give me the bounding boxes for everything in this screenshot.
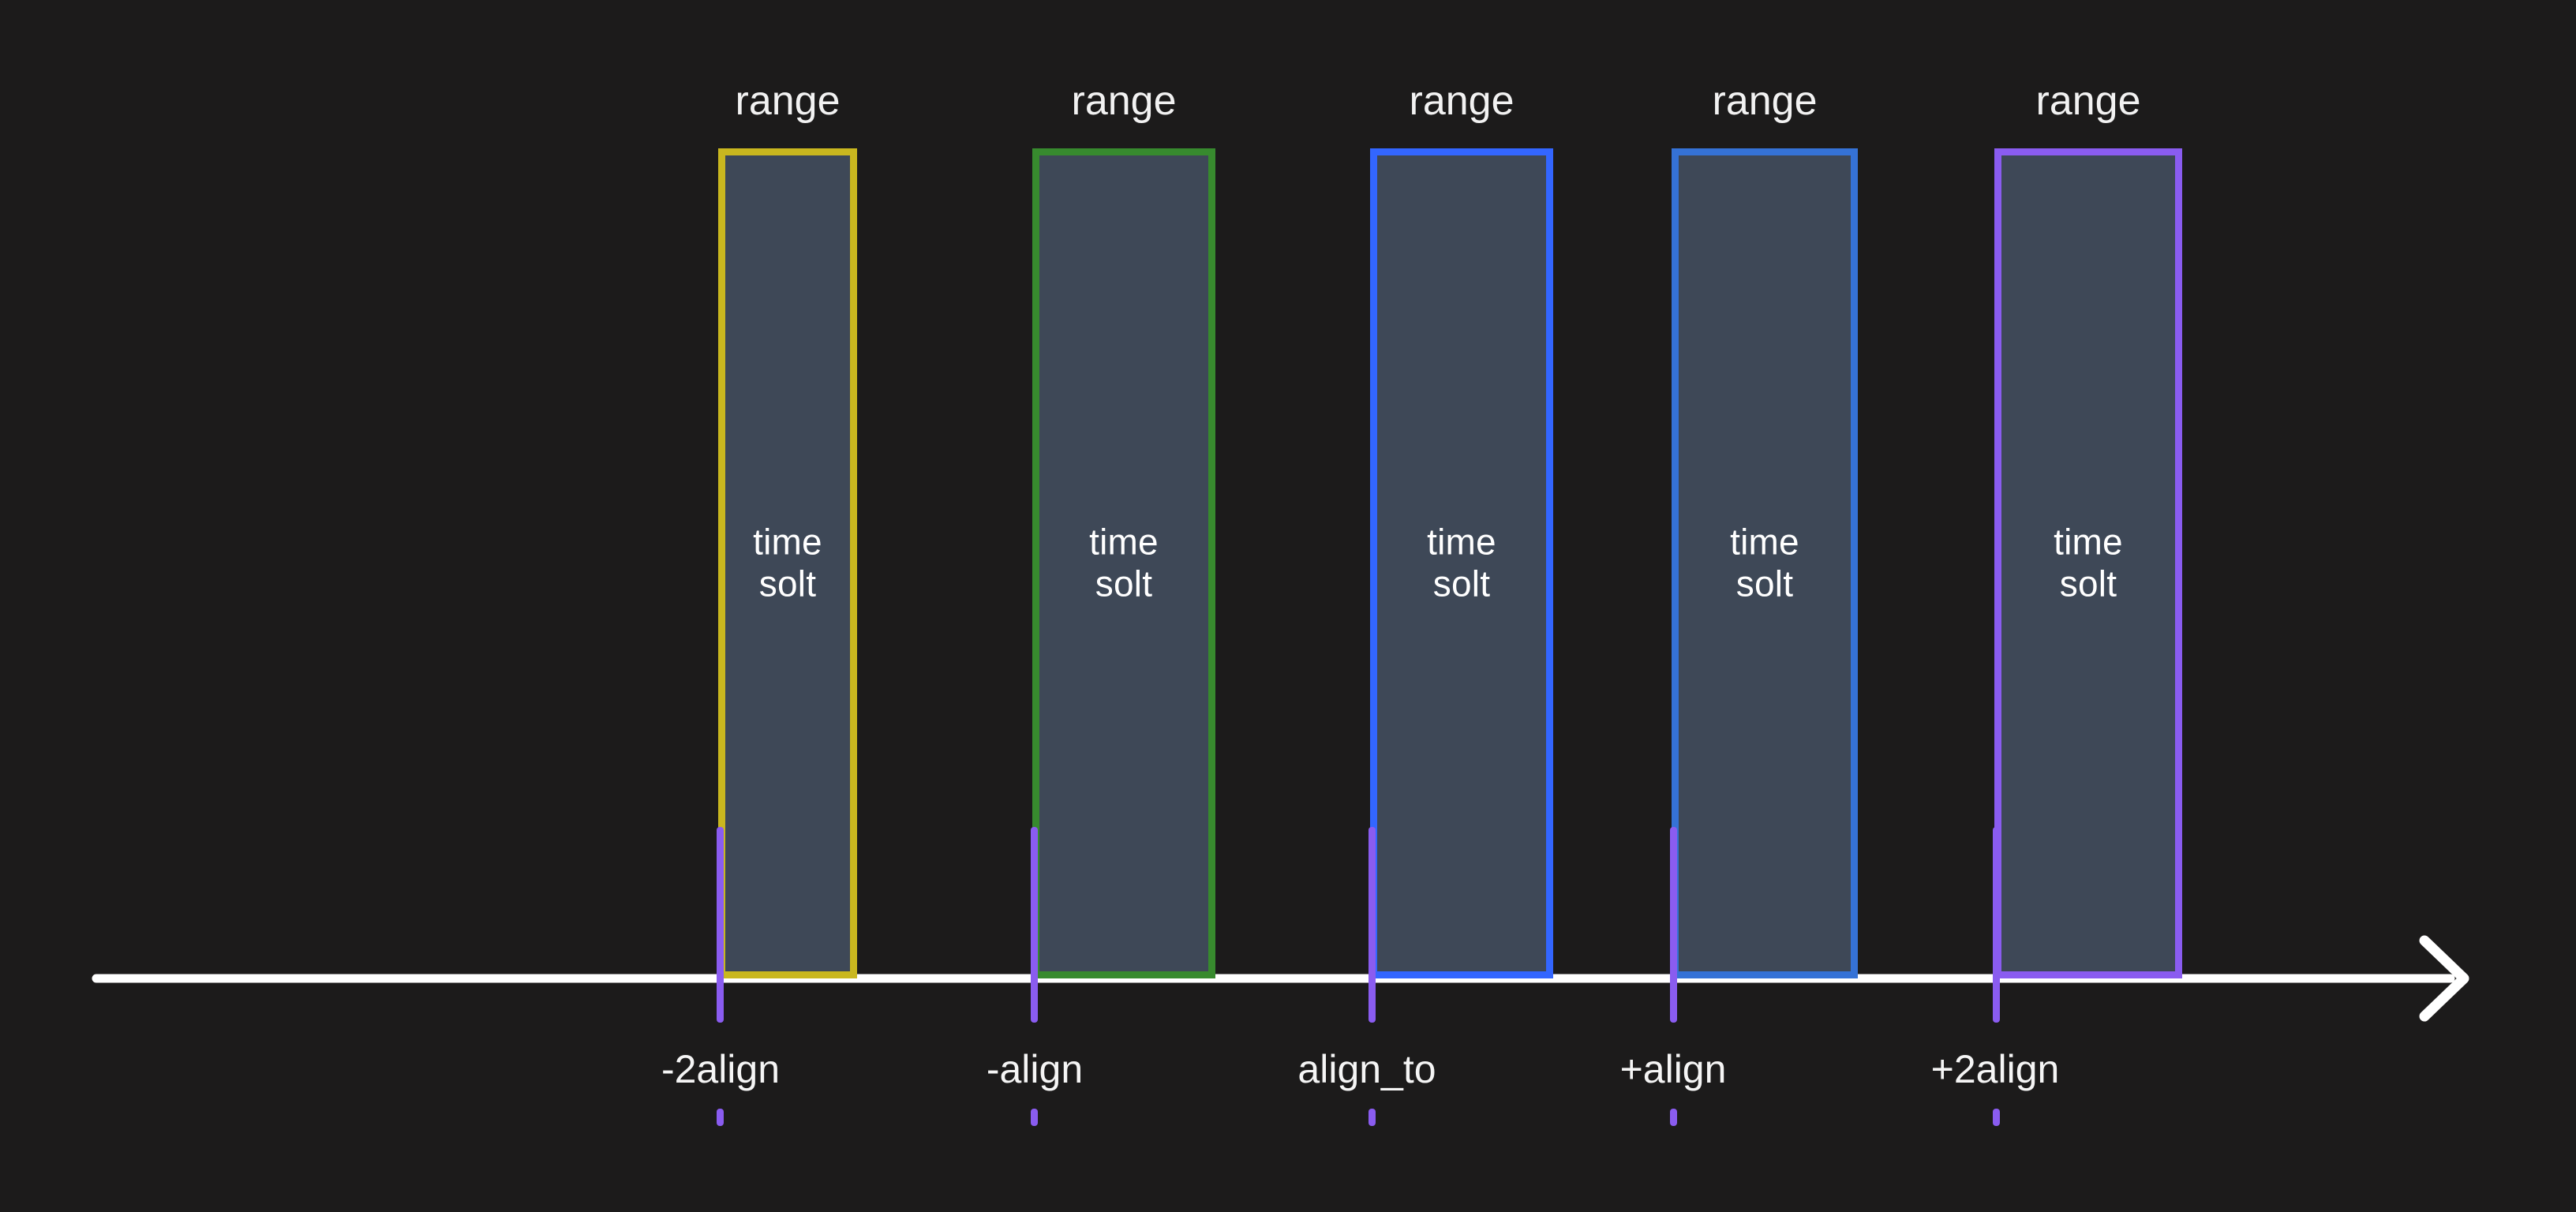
time-slot-label: time solt [2001,522,2175,606]
axis-tick [1368,827,1376,1023]
axis-tick-label: align_to [1209,1049,1525,1089]
time-slot-box[interactable]: time solt [1032,148,1215,978]
axis-tick-label: +align [1515,1049,1831,1089]
axis-tick-dash [1993,1109,2000,1126]
axis-tick-label: +2align [1837,1049,2153,1089]
axis-tick-dash [717,1109,724,1126]
axis-tick-dash [1670,1109,1677,1126]
axis-tick [717,827,724,1023]
time-slot-box[interactable]: time solt [1672,148,1858,978]
range-caption: range [1032,80,1215,122]
axis-arrow-icon [2424,941,2464,1016]
axis-tick [1031,827,1038,1023]
axis-tick-dash [1031,1109,1038,1126]
axis-tick [1993,827,2000,1023]
axis-tick-dash [1368,1109,1376,1126]
axis-tick-label: -2align [563,1049,878,1089]
axis-tick [1670,827,1677,1023]
time-slot-box[interactable]: time solt [1994,148,2182,978]
range-caption: range [1370,80,1553,122]
time-slot-box[interactable]: time solt [1370,148,1553,978]
range-caption: range [1672,80,1858,122]
time-slot-label: time solt [725,522,850,606]
time-slot-box[interactable]: time solt [718,148,857,978]
time-slot-label: time solt [1377,522,1546,606]
time-axis [0,0,2576,1212]
diagram-canvas: range time solt -2align range time solt … [0,0,2576,1212]
range-caption: range [718,80,857,122]
axis-tick-label: -align [877,1049,1193,1089]
time-slot-label: time solt [1679,522,1851,606]
time-slot-label: time solt [1039,522,1208,606]
range-caption: range [1994,80,2182,122]
